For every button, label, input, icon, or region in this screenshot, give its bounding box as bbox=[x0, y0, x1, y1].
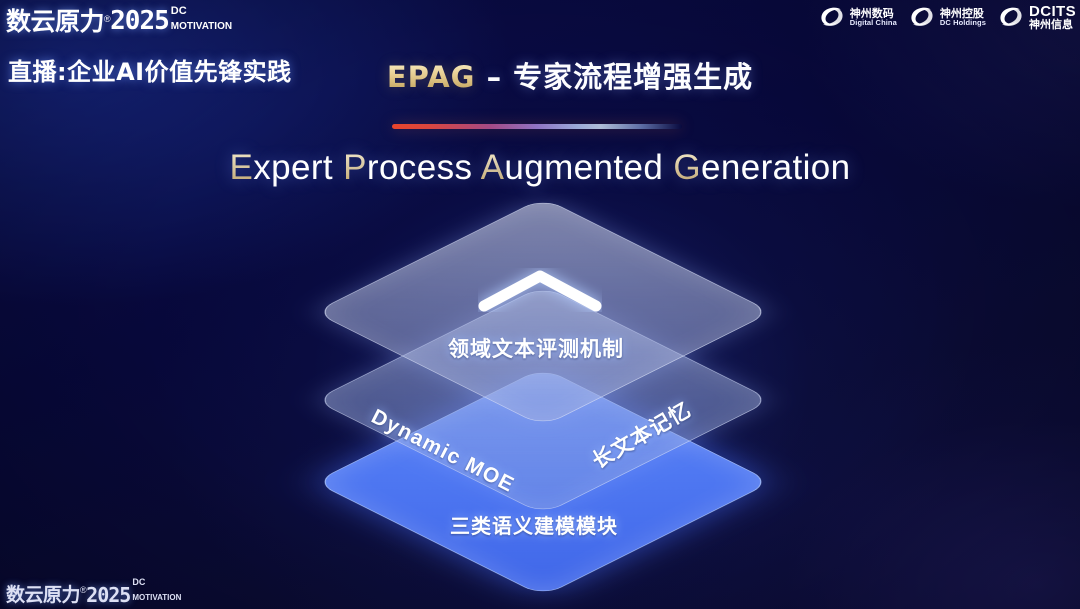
watermark-registered-icon: ® bbox=[80, 585, 86, 595]
watermark-year: 2025 bbox=[86, 585, 130, 605]
watermark-logo: 数云原力 ® 2025 DC MOTIVATION bbox=[6, 2, 1072, 605]
watermark-motivation: MOTIVATION bbox=[132, 593, 181, 602]
watermark-cn: 数云原力 bbox=[6, 586, 80, 605]
slide-canvas: 数云原力 ® 2025 DC MOTIVATION 直播:企业AI价值先锋实践 … bbox=[0, 0, 1080, 609]
watermark-dc: DC bbox=[132, 577, 145, 587]
watermark-dcmotivation: DC MOTIVATION bbox=[132, 573, 181, 605]
